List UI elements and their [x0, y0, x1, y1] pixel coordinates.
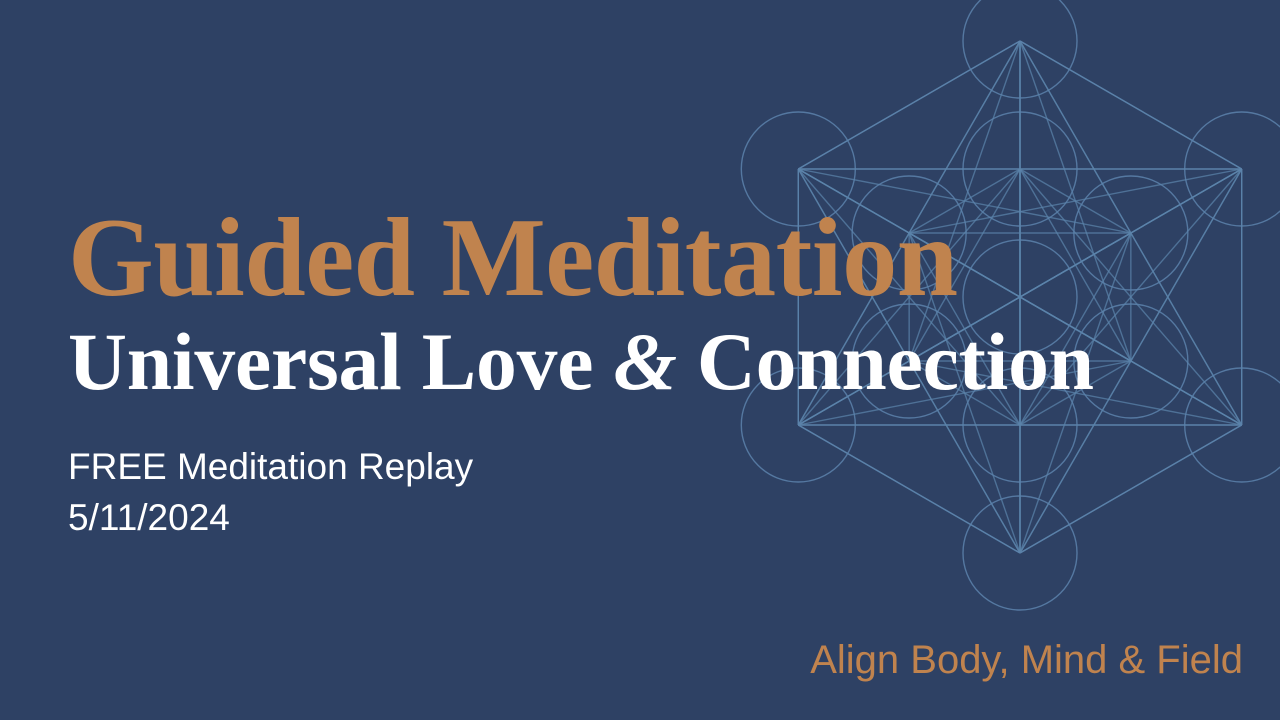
event-details: FREE Meditation Replay 5/11/2024 [68, 441, 1078, 543]
geometry-line [798, 41, 1020, 169]
page-subtitle: Universal Love & Connection [68, 321, 1073, 403]
subtitle-part-two: Connection [677, 316, 1094, 407]
geometry-line [1020, 41, 1242, 169]
geometry-circle [1074, 176, 1188, 290]
presentation-slide: Guided Meditation Universal Love & Conne… [0, 0, 1280, 720]
geometry-line [1131, 169, 1242, 233]
geometry-circle [1185, 368, 1280, 482]
geometry-line [1020, 41, 1131, 233]
ampersand-glyph: & [613, 316, 676, 407]
geometry-line [1131, 233, 1242, 425]
event-type-label: FREE Meditation Replay [68, 441, 1078, 492]
geometry-circle [1185, 112, 1280, 226]
geometry-outer-edge [1020, 41, 1242, 169]
geometry-circle [963, 0, 1077, 98]
geometry-outer-edge [798, 41, 1020, 169]
headline-block: Guided Meditation Universal Love & Conne… [68, 206, 1078, 543]
brand-tagline: Align Body, Mind & Field [810, 640, 1243, 680]
subtitle-part-one: Universal Love [68, 316, 613, 407]
page-title: Guided Meditation [68, 206, 1063, 311]
geometry-line [1131, 361, 1242, 425]
event-date-label: 5/11/2024 [68, 492, 1078, 543]
geometry-line [1131, 169, 1242, 361]
